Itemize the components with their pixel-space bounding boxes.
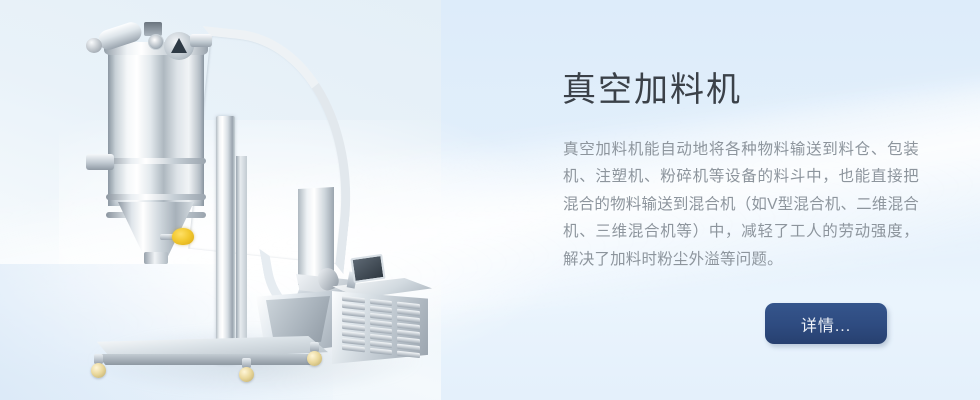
background-corner-bottom-left [0, 264, 333, 400]
control-cabinet [332, 288, 428, 364]
cart-deck-edge [84, 354, 324, 365]
page-title: 真空加料机 [562, 71, 742, 109]
vacuum-port-icon [164, 32, 194, 60]
head-control-box [144, 22, 162, 36]
suction-hose-lower-icon [259, 237, 343, 332]
support-mast [216, 116, 235, 364]
caster-stem [94, 354, 103, 364]
yellow-valve-handle-icon [172, 228, 194, 245]
caster-wheel-icon [91, 363, 106, 378]
background-glow [59, 120, 569, 384]
cabinet-vent-louvres [342, 296, 420, 358]
cabinet-top-plate [326, 278, 432, 298]
suction-hose-icon [178, 26, 367, 274]
material-bin-interior [266, 296, 330, 348]
caster-wheel-icon [307, 351, 322, 366]
product-banner: 真空加料机 真空加料机能自动地将各种物料输送到料仓、包装机、注塑机、粉碎机等设备… [0, 0, 980, 400]
control-display-panel [350, 254, 385, 283]
hopper-outlet [144, 252, 168, 264]
pressure-gauge-icon [148, 34, 164, 50]
side-nozzle [86, 154, 114, 170]
caster-stem [310, 342, 319, 352]
hose-end-fitting-icon [293, 285, 320, 313]
hopper-body [108, 48, 204, 206]
support-mast-secondary [236, 156, 247, 362]
filter-housing [96, 20, 144, 53]
hopper-discharge-cone [118, 202, 194, 256]
rear-panel [298, 187, 334, 285]
background-wash-left [0, 0, 441, 400]
display-mount-arm [347, 271, 358, 288]
product-shadow [90, 326, 420, 396]
hopper-ring-middle [106, 194, 206, 200]
valve-stem [160, 234, 176, 240]
cart-deck [82, 336, 328, 362]
rear-panel-foot [296, 274, 354, 296]
banner-text-column: 真空加料机 真空加料机能自动地将各种物料输送到料仓、包装机、注塑机、粉碎机等设备… [562, 0, 922, 400]
hopper-lid [104, 42, 208, 55]
material-bin [256, 290, 342, 356]
caster-stem [242, 358, 251, 368]
product-description: 真空加料机能自动地将各种物料输送到料仓、包装机、注塑机、粉碎机等设备的料斗中，也… [563, 136, 919, 274]
hopper-ring-lower [106, 212, 206, 218]
hopper-ring-upper [106, 158, 206, 164]
filter-end-cap [86, 38, 102, 53]
hose-inlet-fitting [190, 34, 212, 47]
caster-wheel-icon [239, 367, 254, 382]
pipe-elbow-icon [315, 265, 341, 293]
details-button[interactable]: 详情... [765, 303, 887, 344]
product-image-vacuum-feeder [60, 6, 450, 398]
